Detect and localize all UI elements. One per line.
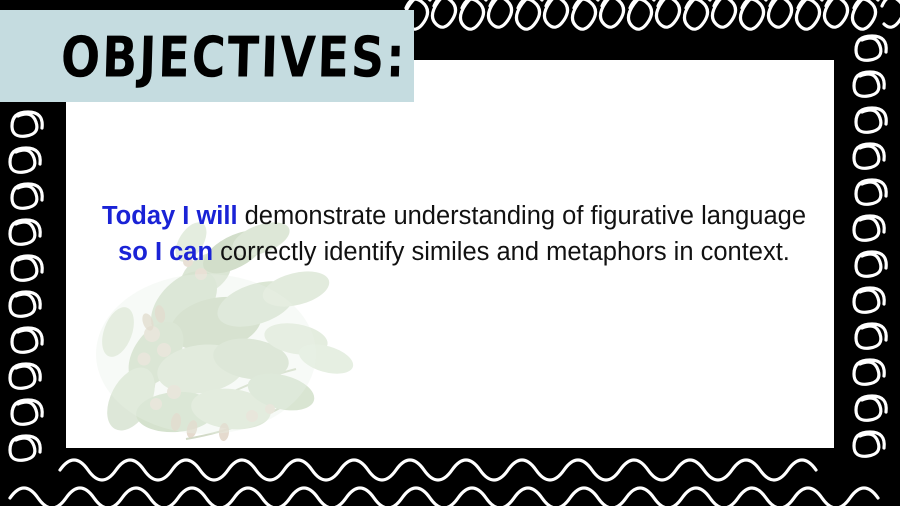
objective-text-part-4: correctly identify similes and metaphors…: [213, 238, 790, 266]
slide: Today I will demonstrate understanding o…: [0, 0, 900, 506]
objective-text-part-2: demonstrate understanding of figurative …: [238, 202, 806, 230]
page-title: OBJECTIVES:: [60, 24, 407, 90]
objective-text: Today I will demonstrate understanding o…: [86, 198, 822, 270]
title-banner: OBJECTIVES:: [0, 10, 414, 102]
objective-highlight-start: Today I will: [102, 202, 238, 230]
content-card: Today I will demonstrate understanding o…: [62, 56, 838, 452]
objective-highlight-middle: so I can: [118, 238, 213, 266]
